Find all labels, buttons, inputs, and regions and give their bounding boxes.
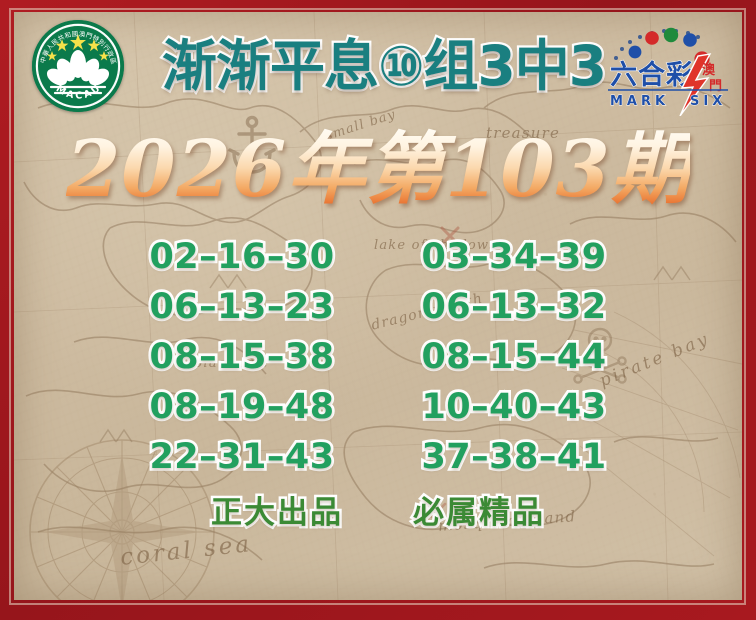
number-set: 10–40–43	[400, 390, 628, 425]
mark-six-artwork: 六合彩 澳 門 MARK SIX	[602, 16, 736, 116]
slogan-left: 正大出品	[211, 498, 343, 529]
table-row: 02–16–30 03–34–39	[128, 232, 628, 282]
slogan-right: 必属精品	[413, 498, 545, 529]
mark-six-logo: 六合彩 澳 門 MARK SIX	[602, 16, 736, 116]
headline-text: 渐渐平息⑩组3中3	[162, 39, 606, 94]
number-set: 08–15–38	[128, 340, 356, 375]
number-set: 22–31–43	[128, 440, 356, 475]
issue-title: 2026年第103期	[14, 124, 742, 216]
table-row: 22–31–43 37–38–41	[128, 432, 628, 482]
map-label-coral-sea: coral sea	[119, 531, 253, 571]
table-row: 08–15–38 08–15–44	[128, 332, 628, 382]
table-row: 06–13–23 06–13–32	[128, 282, 628, 332]
poster-frame: small bay treasure lake of shadows drago…	[0, 0, 756, 620]
number-set: 02–16–30	[128, 240, 356, 275]
issue-title-text: 2026年第103期	[66, 124, 690, 216]
number-set: 06–13–23	[128, 290, 356, 325]
svg-text:門: 門	[709, 79, 722, 94]
svg-text:澳: 澳	[702, 62, 716, 78]
number-set: 06–13–32	[400, 290, 628, 325]
headline-banner: 渐渐平息⑩组3中3	[130, 24, 638, 108]
number-set: 03–34–39	[400, 240, 628, 275]
macau-emblem: MACAU 中華人民共和國澳門特別行政區	[32, 20, 124, 112]
footer-slogans: 正大出品 必属精品	[14, 498, 742, 529]
svg-text:MARK: MARK	[610, 94, 669, 109]
number-set: 08–19–48	[128, 390, 356, 425]
number-set: 08–15–44	[400, 340, 628, 375]
number-set: 37–38–41	[400, 440, 628, 475]
header-bar: MACAU 中華人民共和國澳門特別行政區 渐渐平息⑩组3中3	[14, 12, 742, 118]
parchment-map-board: small bay treasure lake of shadows drago…	[14, 12, 742, 600]
emblem-ring	[37, 25, 119, 107]
table-row: 08–19–48 10–40–43	[128, 382, 628, 432]
svg-text:六合彩: 六合彩	[610, 59, 694, 91]
number-grid: 02–16–30 03–34–39 06–13–23 06–13–32 08–1…	[128, 232, 628, 482]
svg-text:SIX: SIX	[690, 94, 726, 109]
